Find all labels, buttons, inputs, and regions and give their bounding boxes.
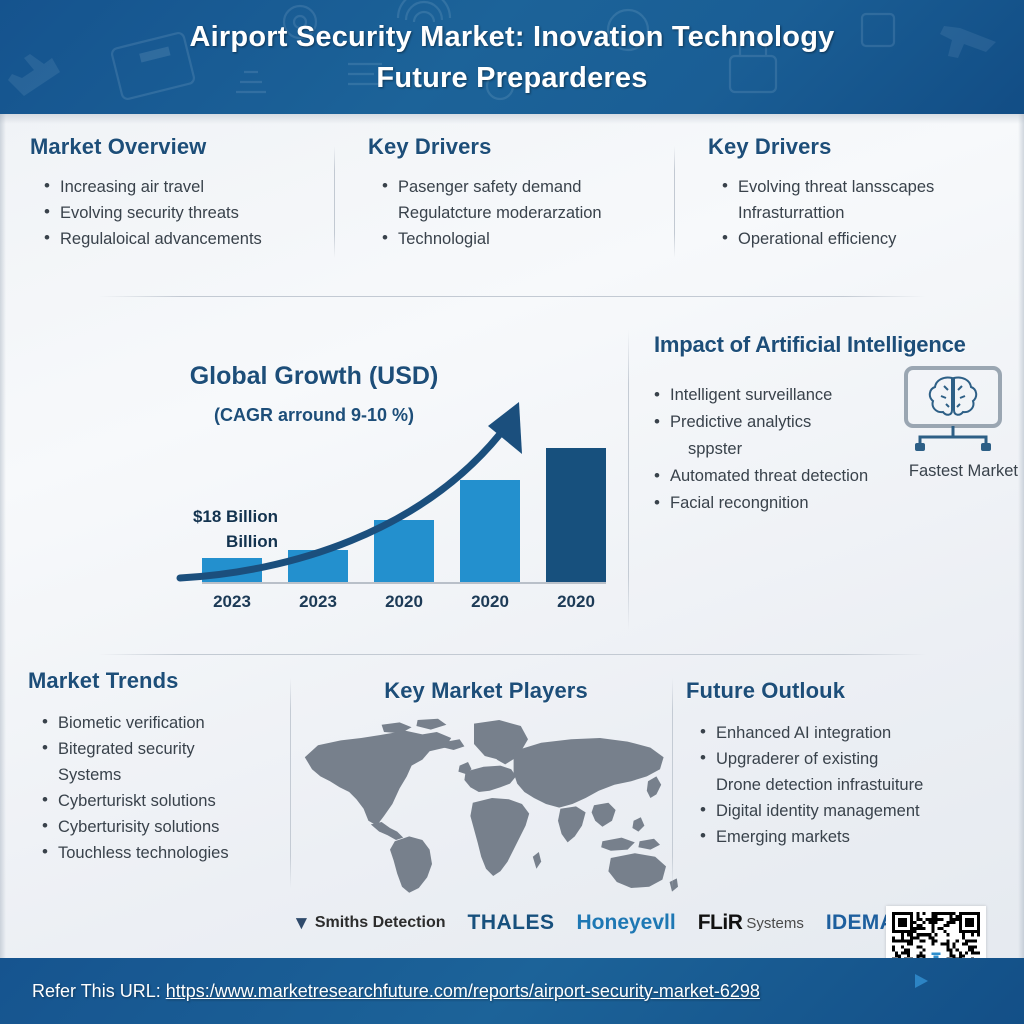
list-item: Increasing air travel	[44, 174, 316, 200]
poster-footer: Refer This URL: https:/www.marketresearc…	[0, 958, 1024, 1024]
chart-x-label: 2023	[202, 592, 262, 612]
chart-bars	[202, 432, 606, 582]
list-item: Upgraderer of existing	[700, 746, 1024, 772]
list-item: Evolving threat lansscapes	[722, 174, 998, 200]
future-outlook-heading: Future Outlouk	[686, 678, 1024, 704]
section-divider-1	[98, 296, 926, 297]
logo-flir-label: FLiR	[698, 911, 743, 935]
key-drivers-2-list: Evolving threat lansscapes Infrasturratt…	[708, 174, 998, 252]
brain-monitor-icon	[900, 364, 1006, 456]
chart-and-ai-row: Global Growth (USD) (CAGR arround 9-10 %…	[0, 312, 1024, 642]
bottom-divider-1	[290, 678, 291, 888]
logo-idema-label: IDEMA	[826, 911, 895, 935]
chart-x-label: 2020	[546, 592, 606, 612]
smiths-chevron-icon: ▼	[292, 914, 311, 933]
market-overview-heading: Market Overview	[30, 134, 316, 160]
infographic-poster: Airport Security Market: Inovation Techn…	[0, 0, 1024, 1024]
logo-thales: THALES	[468, 911, 555, 935]
chart-x-label: 2023	[288, 592, 348, 612]
chart-x-label: 2020	[374, 592, 434, 612]
chart-x-axis-labels: 20232023202020202020	[202, 592, 606, 612]
key-drivers-1-list: Pasenger safety demand Regulatcture mode…	[368, 174, 658, 252]
list-item: Emerging markets	[700, 824, 1024, 850]
top-columns-row: Market Overview Increasing air travel Ev…	[0, 134, 1024, 286]
market-trends-heading: Market Trends	[28, 668, 290, 694]
chart-bar-group	[546, 432, 606, 582]
ai-impact-list: Intelligent surveillance Predictive anal…	[652, 382, 922, 517]
key-drivers-column-1: Key Drivers Pasenger safety demand Regul…	[342, 134, 684, 286]
footer-url-line: Refer This URL: https:/www.marketresearc…	[0, 981, 760, 1002]
list-item: Regulaloical advancements	[44, 226, 316, 252]
list-item: Regulatcture moderarzation	[382, 200, 658, 226]
chart-bar-group	[460, 432, 520, 582]
market-overview-list: Increasing air travel Evolving security …	[30, 174, 316, 252]
chart-bar	[374, 520, 434, 582]
list-item: sppster	[652, 436, 922, 463]
list-item: Biometic verification	[42, 710, 290, 736]
list-item: Bitegrated security	[42, 736, 290, 762]
key-players-column: Key Market Players	[292, 678, 680, 899]
section-divider-2	[98, 654, 926, 655]
footer-prefix: Refer This URL:	[32, 981, 166, 1001]
list-item: Facial recongnition	[652, 490, 922, 517]
chart-title: Global Growth (USD)	[0, 362, 628, 391]
chart-subtitle: (CAGR arround 9-10 %)	[0, 405, 628, 426]
list-item: Technologial	[382, 226, 658, 252]
chart-ai-divider	[628, 330, 629, 630]
ai-impact-heading: Impact of Artificial Intelligence	[654, 332, 1024, 358]
chart-bar	[460, 480, 520, 582]
key-drivers-1-heading: Key Drivers	[368, 134, 658, 160]
poster-header: Airport Security Market: Inovation Techn…	[0, 0, 1024, 114]
list-item: Enhanced AI integration	[700, 720, 1024, 746]
list-item: Cyberturiskt solutions	[42, 788, 290, 814]
list-item: Predictive analytics	[652, 409, 922, 436]
chart-plot-area: 20232023202020202020	[196, 424, 616, 614]
chart-x-label: 2020	[460, 592, 520, 612]
key-players-heading: Key Market Players	[292, 678, 680, 704]
market-trends-column: Market Trends Biometic verification Bite…	[0, 668, 290, 866]
list-item: Evolving security threats	[44, 200, 316, 226]
header-title-line-2: Future Preparderes	[0, 58, 1024, 99]
list-item: Infrasturrattion	[722, 200, 998, 226]
list-item: Pasenger safety demand	[382, 174, 658, 200]
key-drivers-column-2: Key Drivers Evolving threat lansscapes I…	[684, 134, 1024, 286]
chart-bar	[288, 550, 348, 582]
list-item: Systems	[42, 762, 290, 788]
header-title-line-1: Airport Security Market: Inovation Techn…	[0, 17, 1024, 58]
chart-bar-group	[374, 432, 434, 582]
future-outlook-column: Future Outlouk Enhanced AI integration U…	[682, 678, 1024, 850]
ai-impact-panel: Impact of Artificial Intelligence Intell…	[632, 312, 1024, 642]
partner-logos-row: ▼ Smiths Detection THALES Honeyevll FLiR…	[292, 906, 892, 940]
future-outlook-list: Enhanced AI integration Upgraderer of ex…	[686, 720, 1024, 850]
header-shadow-band	[0, 114, 1024, 124]
logo-flir: FLiR Systems	[698, 911, 804, 935]
logo-flir-sublabel: Systems	[746, 915, 804, 932]
footer-arrow-icon	[915, 974, 928, 988]
bottom-divider-2	[672, 678, 673, 888]
chart-bar-group	[202, 432, 262, 582]
world-map	[292, 714, 680, 894]
global-growth-chart: Global Growth (USD) (CAGR arround 9-10 %…	[0, 312, 628, 642]
list-item: Automated threat detection	[652, 463, 922, 490]
chart-bar	[202, 558, 262, 582]
list-item: Operational efficiency	[722, 226, 998, 252]
header-title-block: Airport Security Market: Inovation Techn…	[0, 0, 1024, 99]
list-item: Cyberturisity solutions	[42, 814, 290, 840]
logo-honeywell: Honeyevll	[577, 911, 676, 935]
list-item: Intelligent surveillance	[652, 382, 922, 409]
list-item: Digital identity management	[700, 798, 1024, 824]
market-overview-column: Market Overview Increasing air travel Ev…	[0, 134, 342, 286]
ai-icon-caption: Fastest Market	[909, 462, 1018, 481]
column-divider-1	[334, 146, 335, 258]
column-divider-2	[674, 146, 675, 258]
footer-url[interactable]: https:/www.marketresearchfuture.com/repo…	[166, 981, 760, 1001]
key-drivers-2-heading: Key Drivers	[708, 134, 998, 160]
chart-baseline-axis	[202, 582, 606, 584]
chart-bar-group	[288, 432, 348, 582]
market-trends-list: Biometic verification Bitegrated securit…	[28, 710, 290, 866]
list-item: Drone detection infrastuiture	[700, 772, 1024, 798]
list-item: Touchless technologies	[42, 840, 290, 866]
logo-smiths-detection: ▼ Smiths Detection	[292, 914, 446, 933]
logo-smiths-detection-label: Smiths Detection	[315, 914, 446, 932]
chart-bar	[546, 448, 606, 582]
